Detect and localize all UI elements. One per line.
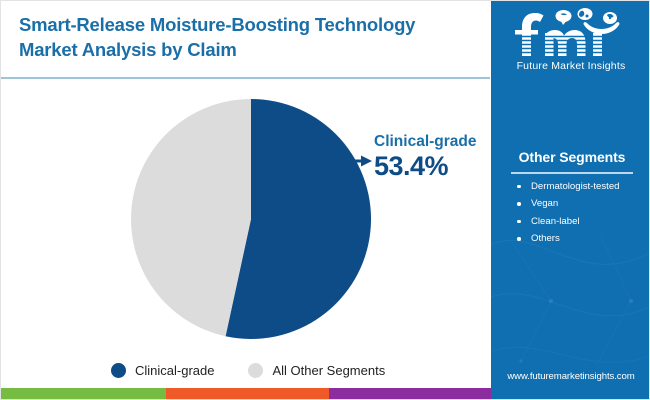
other-segments-divider (511, 172, 633, 174)
list-item-label: Dermatologist-tested (531, 181, 620, 192)
legend-label: Clinical-grade (135, 363, 214, 378)
chart-legend: Clinical-grade All Other Segments (111, 363, 385, 378)
pie-slice-all-other-segments[interactable] (131, 99, 251, 336)
page-title: Smart-Release Moisture-Boosting Technolo… (19, 13, 479, 62)
title-divider (1, 77, 490, 79)
strip-segment-green (1, 388, 166, 399)
strip-segment-orange (166, 388, 329, 399)
bullet-icon (517, 185, 521, 189)
arrow-right-icon (344, 154, 374, 168)
legend-swatch-icon (111, 363, 126, 378)
list-item-label: Vegan (531, 198, 558, 209)
list-item: Clean-label (517, 217, 639, 235)
list-item: Vegan (517, 199, 639, 217)
page-title-line-2: Market Analysis by Claim (19, 38, 479, 63)
bullet-icon (517, 202, 521, 206)
strip-segment-purple (329, 388, 491, 399)
other-segments-box: Other Segments Dermatologist-tested Vega… (505, 149, 639, 252)
list-item-label: Others (531, 233, 560, 244)
pie-chart (131, 99, 371, 339)
pie-chart-svg (131, 99, 371, 339)
bullet-icon (517, 220, 521, 224)
brand-logo[interactable]: Future Market Insights (491, 7, 650, 72)
list-item: Dermatologist-tested (517, 182, 639, 200)
bottom-color-strip (1, 388, 650, 399)
callout-value: 53.4% (374, 151, 448, 182)
legend-label: All Other Segments (272, 363, 385, 378)
page-title-line-1: Smart-Release Moisture-Boosting Technolo… (19, 13, 479, 38)
legend-swatch-icon (248, 363, 263, 378)
strip-segment-blue (491, 388, 650, 399)
brand-tagline: Future Market Insights (491, 60, 650, 72)
other-segments-title: Other Segments (505, 149, 639, 165)
legend-item-clinical-grade[interactable]: Clinical-grade (111, 363, 214, 378)
website-url[interactable]: www.futuremarketinsights.com (491, 371, 650, 382)
other-segments-list: Dermatologist-tested Vegan Clean-label O… (505, 182, 639, 252)
list-item: Others (517, 234, 639, 252)
legend-item-all-other-segments[interactable]: All Other Segments (248, 363, 385, 378)
infographic-canvas: Smart-Release Moisture-Boosting Technolo… (0, 0, 650, 400)
bullet-icon (517, 237, 521, 241)
list-item-label: Clean-label (531, 216, 580, 227)
brand-panel: Future Market Insights Other Segments De… (491, 1, 650, 400)
fmi-logo-icon (512, 7, 630, 59)
callout-label: Clinical-grade (374, 133, 477, 151)
